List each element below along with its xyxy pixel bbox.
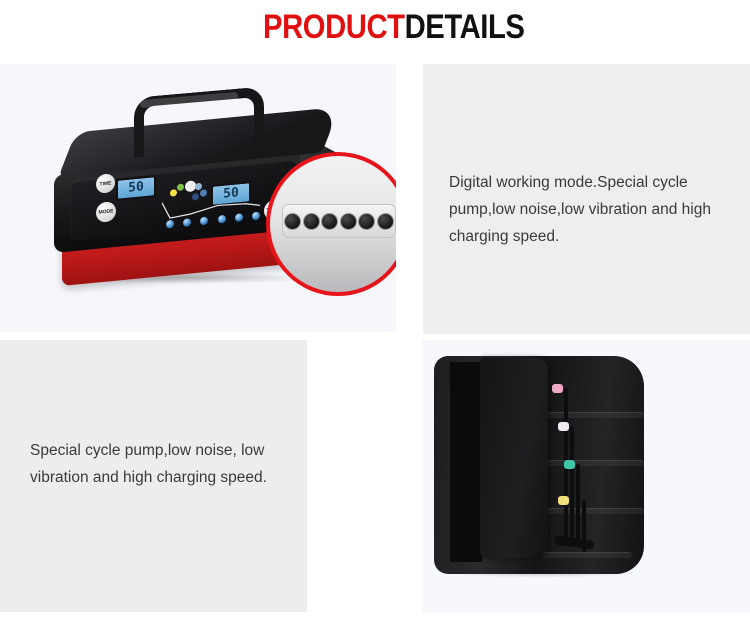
description-text-digital-working-mode: Digital working mode.Special cycle pump,…	[449, 169, 719, 250]
wheel-segment	[170, 189, 177, 197]
page-header: PRODUCTDETAILS	[0, 0, 750, 64]
pink-connector	[552, 384, 563, 393]
lcd-display-left: 50	[116, 175, 156, 201]
led-indicator	[166, 220, 174, 229]
connector-port	[377, 213, 394, 230]
air-hose	[570, 426, 574, 538]
panel-description-special-cycle-pump: Special cycle pump,low noise, low vibrat…	[0, 340, 307, 612]
connector-port	[321, 213, 338, 230]
led-indicator	[252, 211, 260, 220]
belt-front-flap	[480, 358, 548, 558]
connector-port	[303, 213, 320, 230]
connector-port	[358, 213, 375, 230]
belt-chamber-seam	[542, 552, 632, 558]
led-indicator	[235, 213, 243, 222]
panel-description-digital-working-mode: Digital working mode.Special cycle pump,…	[423, 64, 750, 334]
belt-chamber-seam	[542, 460, 644, 466]
description-text-special-cycle-pump: Special cycle pump,low noise, low vibrat…	[30, 437, 285, 491]
belt-chamber-seam	[542, 412, 644, 418]
panel-product-photo-control-unit: 50 50 TIME MODE TIMER + − ⏻	[0, 64, 396, 332]
compression-belt-illustration	[434, 352, 659, 582]
led-indicator	[218, 215, 226, 224]
white-connector	[558, 422, 569, 431]
connector-port	[340, 213, 357, 230]
teal-connector	[564, 460, 575, 469]
page-title-rest: DETAILS	[405, 8, 525, 46]
led-indicator	[200, 216, 208, 225]
yellow-connector	[558, 496, 569, 505]
page-title-highlight: PRODUCT	[263, 8, 405, 46]
wheel-segment	[177, 183, 184, 191]
air-hose	[576, 464, 580, 544]
page-title: PRODUCTDETAILS	[263, 9, 524, 45]
led-indicator	[183, 218, 191, 227]
panel-product-photo-compression-belt	[422, 340, 750, 613]
connector-port	[284, 213, 301, 230]
connector-block	[282, 204, 396, 238]
belt-velcro-strip	[450, 362, 482, 562]
belt-chamber-seam	[542, 508, 644, 514]
